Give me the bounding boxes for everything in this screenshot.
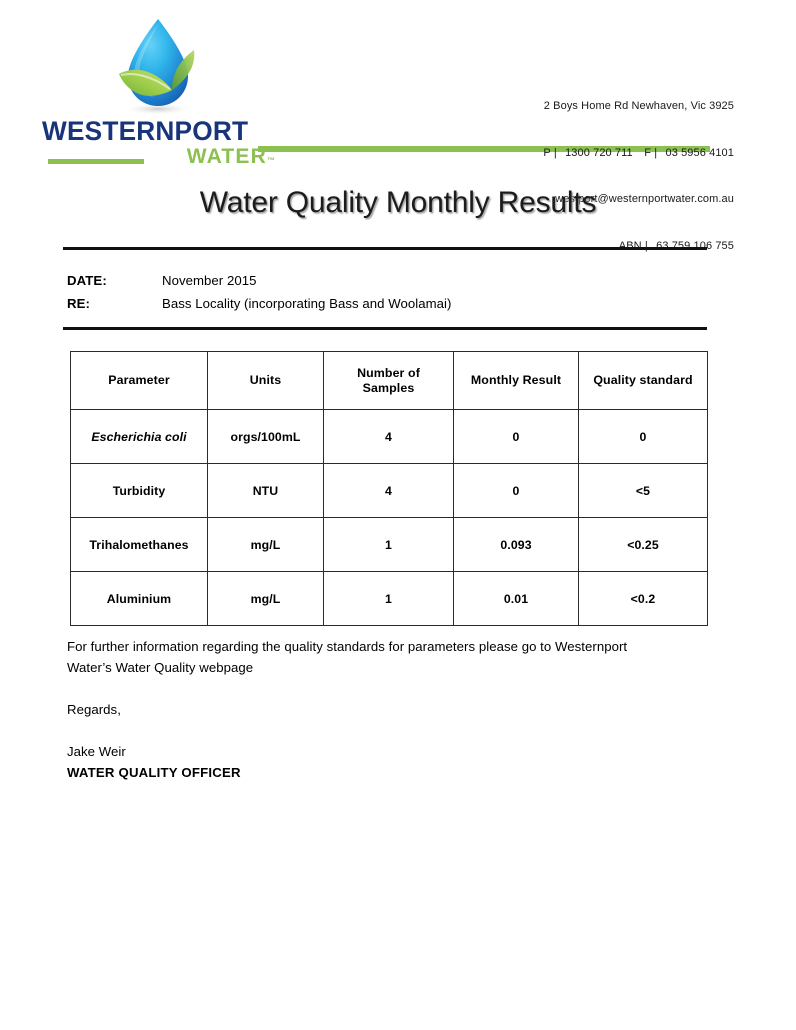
contact-address: 2 Boys Home Rd Newhaven, Vic 3925 [543, 99, 734, 115]
cell-quality-standard: 0 [579, 410, 708, 464]
footer-spacer-2 [67, 720, 707, 741]
column-header-monthly-result: Monthly Result [454, 352, 579, 410]
letterhead: WESTERNPORT WATER™ 2 Boys Home Rd Newhav… [0, 0, 796, 170]
wordmark-green-dash [48, 159, 144, 164]
table-body: Escherichia coli orgs/100mL 4 0 0 Turbid… [71, 410, 708, 626]
footer-signer-title: WATER QUALITY OFFICER [67, 762, 707, 783]
cell-samples: 4 [324, 464, 454, 518]
cell-monthly-result: 0.093 [454, 518, 579, 572]
divider-bottom [63, 327, 707, 330]
cell-samples: 4 [324, 410, 454, 464]
table-row: Trihalomethanes mg/L 1 0.093 <0.25 [71, 518, 708, 572]
table-header: Parameter Units Number of Samples Monthl… [71, 352, 708, 410]
cell-units: mg/L [208, 518, 324, 572]
document-meta: DATE:November 2015 RE:Bass Locality (inc… [67, 269, 451, 315]
footer-spacer-1 [67, 678, 707, 699]
column-header-quality-standard: Quality standard [579, 352, 708, 410]
column-header-samples-line2: Samples [363, 381, 415, 395]
cell-parameter: Turbidity [71, 464, 208, 518]
wordmark-sub-text: WATER [187, 145, 267, 168]
cell-parameter: Escherichia coli [71, 410, 208, 464]
fax-value: 03 5956 4101 [666, 147, 735, 159]
column-header-parameter: Parameter [71, 352, 208, 410]
trademark-symbol: ™ [267, 156, 275, 165]
phone-value: 1300 720 711 [565, 147, 633, 159]
page-title: Water Quality Monthly Results [0, 186, 796, 220]
re-value: Bass Locality (incorporating Bass and Wo… [162, 296, 451, 311]
column-header-number-of-samples: Number of Samples [324, 352, 454, 410]
date-label: DATE: [67, 269, 162, 292]
cell-monthly-result: 0 [454, 410, 579, 464]
contact-phone-fax: P | 1300 720 711 F | 03 5956 4101 [543, 146, 734, 162]
column-header-samples-line1: Number of [357, 366, 420, 380]
footer-block: For further information regarding the qu… [67, 636, 707, 783]
footer-signer-name: Jake Weir [67, 741, 707, 762]
water-droplet-leaf-logo-icon [110, 14, 206, 118]
cell-parameter: Aluminium [71, 572, 208, 626]
date-value: November 2015 [162, 273, 256, 288]
footer-info-line1: For further information regarding the qu… [67, 636, 707, 657]
contact-block: 2 Boys Home Rd Newhaven, Vic 3925 P | 13… [543, 68, 734, 285]
cell-units: NTU [208, 464, 324, 518]
cell-units: orgs/100mL [208, 410, 324, 464]
cell-monthly-result: 0.01 [454, 572, 579, 626]
fax-label: F | [644, 147, 657, 159]
column-header-units: Units [208, 352, 324, 410]
cell-samples: 1 [324, 572, 454, 626]
footer-regards: Regards, [67, 699, 707, 720]
cell-samples: 1 [324, 518, 454, 572]
footer-info-line2: Water’s Water Quality webpage [67, 657, 707, 678]
re-label: RE: [67, 292, 162, 315]
wordmark-sub-row: WATER™ [42, 146, 277, 168]
table-row: Turbidity NTU 4 0 <5 [71, 464, 708, 518]
wordmark-main-text: WESTERNPORT [42, 118, 275, 145]
company-wordmark: WESTERNPORT WATER™ [42, 118, 277, 166]
table-header-row: Parameter Units Number of Samples Monthl… [71, 352, 708, 410]
cell-monthly-result: 0 [454, 464, 579, 518]
cell-quality-standard: <0.2 [579, 572, 708, 626]
cell-units: mg/L [208, 572, 324, 626]
table-row: Escherichia coli orgs/100mL 4 0 0 [71, 410, 708, 464]
table-row: Aluminium mg/L 1 0.01 <0.2 [71, 572, 708, 626]
company-logo: WESTERNPORT WATER™ [42, 14, 277, 162]
cell-quality-standard: <0.25 [579, 518, 708, 572]
water-quality-results-table: Parameter Units Number of Samples Monthl… [70, 351, 708, 626]
divider-top [63, 247, 707, 250]
meta-row-re: RE:Bass Locality (incorporating Bass and… [67, 292, 451, 315]
phone-label: P | [543, 147, 556, 159]
cell-quality-standard: <5 [579, 464, 708, 518]
meta-row-date: DATE:November 2015 [67, 269, 451, 292]
cell-parameter: Trihalomethanes [71, 518, 208, 572]
